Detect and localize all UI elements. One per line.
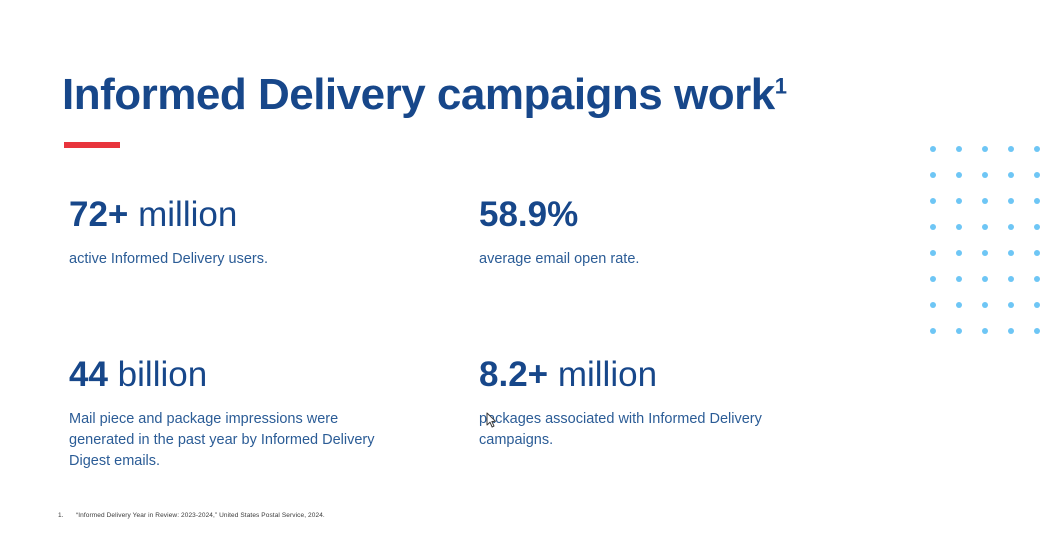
decorative-dot xyxy=(956,224,962,230)
footnote-marker: 1. xyxy=(58,512,76,519)
decorative-dot xyxy=(956,276,962,282)
decorative-dot xyxy=(930,198,936,204)
decorative-dot xyxy=(982,302,988,308)
stat-unit: million xyxy=(128,195,237,234)
decorative-dot xyxy=(1008,172,1014,178)
decorative-dot xyxy=(1008,328,1014,334)
stat-number: 58.9% xyxy=(479,195,578,234)
stat-number: 72+ xyxy=(69,195,128,234)
stat-block: 58.9% average email open rate. xyxy=(479,195,859,270)
decorative-dot xyxy=(1034,302,1040,308)
stat-value: 72+ million xyxy=(69,195,449,235)
stat-description: average email open rate. xyxy=(479,249,819,270)
decorative-dot xyxy=(1008,276,1014,282)
decorative-dot xyxy=(982,328,988,334)
decorative-dot xyxy=(930,302,936,308)
decorative-dot xyxy=(1034,172,1040,178)
slide-canvas: Informed Delivery campaigns work1 72+ mi… xyxy=(0,0,1056,535)
decorative-dot xyxy=(982,198,988,204)
stat-number: 8.2+ xyxy=(479,355,548,394)
decorative-dot xyxy=(930,224,936,230)
stats-grid: 72+ million active Informed Delivery use… xyxy=(0,0,1056,535)
stat-block: 44 billion Mail piece and package impres… xyxy=(69,355,449,472)
decorative-dot xyxy=(1034,224,1040,230)
decorative-dot xyxy=(1008,250,1014,256)
decorative-dot xyxy=(930,146,936,152)
decorative-dot xyxy=(1008,146,1014,152)
stat-value: 8.2+ million xyxy=(479,355,859,395)
decorative-dot-grid xyxy=(930,146,1044,336)
stat-number: 44 xyxy=(69,355,108,394)
stat-block: 8.2+ million packages associated with In… xyxy=(479,355,859,451)
stat-value: 44 billion xyxy=(69,355,449,395)
decorative-dot xyxy=(982,276,988,282)
decorative-dot xyxy=(956,250,962,256)
decorative-dot xyxy=(1034,250,1040,256)
decorative-dot xyxy=(930,276,936,282)
decorative-dot xyxy=(930,250,936,256)
decorative-dot xyxy=(930,172,936,178)
stat-description: Mail piece and package impressions were … xyxy=(69,409,399,472)
decorative-dot xyxy=(1034,328,1040,334)
decorative-dot xyxy=(956,146,962,152)
decorative-dot xyxy=(982,224,988,230)
stat-unit: million xyxy=(548,355,657,394)
stat-unit: billion xyxy=(108,355,207,394)
decorative-dot xyxy=(1034,198,1040,204)
decorative-dot xyxy=(1008,224,1014,230)
stat-description: active Informed Delivery users. xyxy=(69,249,399,270)
footnote: 1.“Informed Delivery Year in Review: 202… xyxy=(58,512,325,519)
decorative-dot xyxy=(1008,302,1014,308)
decorative-dot xyxy=(982,172,988,178)
decorative-dot xyxy=(982,146,988,152)
stat-block: 72+ million active Informed Delivery use… xyxy=(69,195,449,270)
decorative-dot xyxy=(956,172,962,178)
decorative-dot xyxy=(956,302,962,308)
decorative-dot xyxy=(956,328,962,334)
stat-description: packages associated with Informed Delive… xyxy=(479,409,819,451)
decorative-dot xyxy=(956,198,962,204)
decorative-dot xyxy=(1034,146,1040,152)
decorative-dot xyxy=(1034,276,1040,282)
decorative-dot xyxy=(1008,198,1014,204)
footnote-text: “Informed Delivery Year in Review: 2023-… xyxy=(76,512,325,519)
stat-value: 58.9% xyxy=(479,195,859,235)
decorative-dot xyxy=(982,250,988,256)
decorative-dot xyxy=(930,328,936,334)
